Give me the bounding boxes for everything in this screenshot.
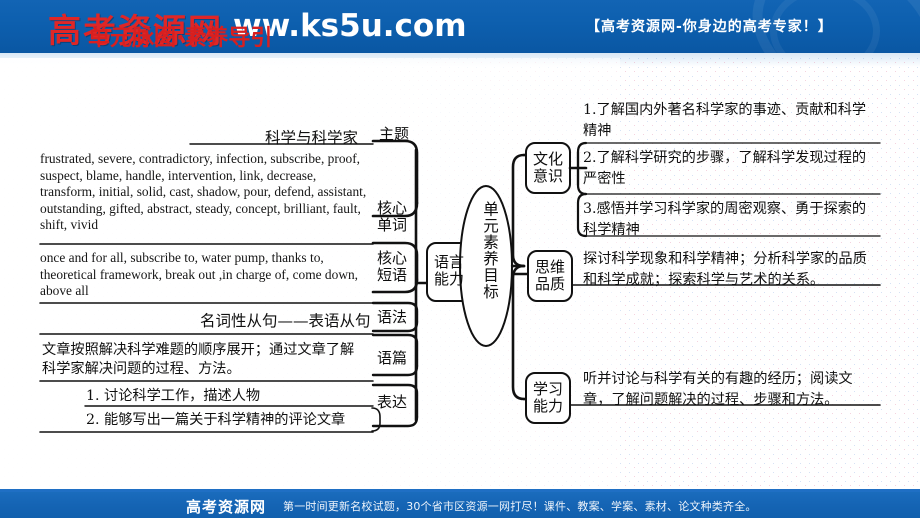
expression-text-1: 1. 讨论科学工作，描述人物 [86,387,376,406]
culture-item-3: 3.感悟并学习科学家的周密观察、勇于探索的科学精神 [583,199,879,240]
node-culture-awareness-line2: 意识 [533,168,563,185]
label-theme: 主题 [379,126,409,144]
label-core-words-line2: 单词 [377,217,407,234]
node-unit-goal[interactable]: 单元素养目标 [479,201,501,331]
node-thinking-quality-line1: 思维 [535,259,565,276]
footer-tagline: 第一时间更新名校试题，30个省市区资源一网打尽！课件、教案、学案、素材、论文种类… [283,498,757,514]
learning-ability-text: 听并讨论与科学有关的有趣的经历；阅读文章，了解问题解决的过程、步骤和方法。 [583,369,879,410]
node-thinking-quality[interactable]: 思维 品质 [535,259,565,292]
discourse-text: 文章按照解决科学难题的顺序展开；通过文章了解科学家解决问题的过程、方法。 [42,341,367,379]
site-header-banner: 高考资源网 ww.ks5u.com 单元脉图·素养导引 【高考资源网-你身边的高… [0,0,920,53]
grammar-text: 名词性从句——表语从句 [200,309,371,331]
label-core-words-line1: 核心 [377,200,407,217]
label-grammar: 语法 [377,309,407,327]
culture-item-2: 2.了解科学研究的步骤，了解科学发现过程的严密性 [583,148,879,189]
core-words-text: frustrated, severe, contradictory, infec… [40,151,372,234]
node-learning-ability[interactable]: 学习 能力 [533,381,563,414]
node-learning-ability-line1: 学习 [533,381,563,398]
core-phrases-text: once and for all, subscribe to, water pu… [40,250,370,300]
culture-item-1: 1.了解国内外著名科学家的事迹、贡献和科学精神 [583,100,879,141]
label-core-phrases: 核心 短语 [377,250,407,283]
expression-text-2: 2. 能够写出一篇关于科学精神的评论文章 [86,411,376,430]
label-expression: 表达 [377,394,407,412]
header-fade-strip [0,53,920,67]
node-language-ability-line2: 能力 [434,271,464,288]
slide-page: 高考资源网 ww.ks5u.com 单元脉图·素养导引 【高考资源网-你身边的高… [0,0,920,518]
site-footer-banner: 高考资源网 第一时间更新名校试题，30个省市区资源一网打尽！课件、教案、学案、素… [0,492,920,518]
label-core-words: 核心 单词 [377,200,407,233]
node-thinking-quality-line2: 品质 [535,276,565,293]
header-slogan: 【高考资源网-你身边的高考专家！】 [586,16,833,36]
node-language-ability-line1: 语言 [434,254,464,271]
node-language-ability[interactable]: 语言 能力 [434,254,464,287]
node-culture-awareness-line1: 文化 [533,151,563,168]
label-core-phrases-line2: 短语 [377,267,407,284]
node-learning-ability-line2: 能力 [533,398,563,415]
label-core-phrases-line1: 核心 [377,250,407,267]
slide-title-overlay: 单元脉图·素养导引 [88,20,272,52]
label-discourse: 语篇 [377,350,407,368]
footer-site-logo: 高考资源网 [186,496,266,517]
topic-theme-text: 科学与科学家 [265,126,358,148]
node-culture-awareness[interactable]: 文化 意识 [533,151,563,184]
thinking-quality-text: 探讨科学现象和科学精神；分析科学家的品质和科学成就；探索科学与艺术的关系。 [583,249,879,290]
